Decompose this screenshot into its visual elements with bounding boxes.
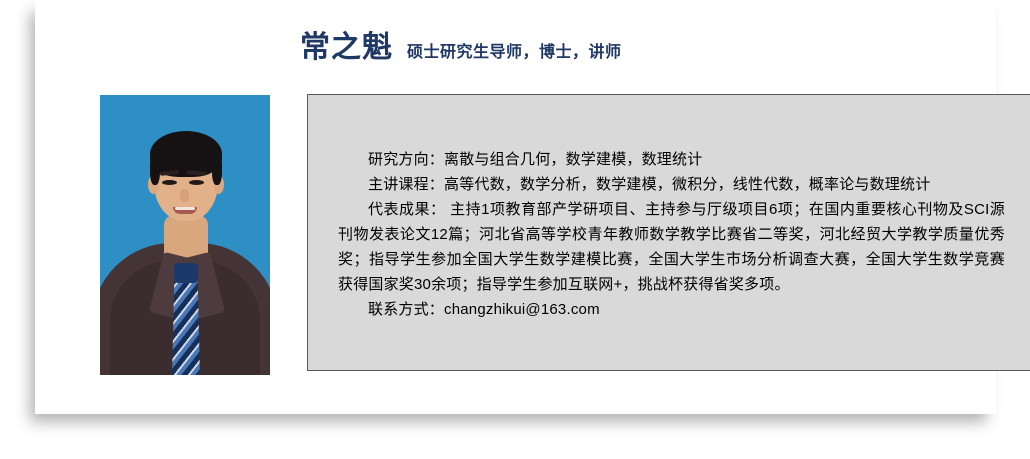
achievements-line: 代表成果： 主持1项教育部产学研项目、主持参与厅级项目6项；在国内重要核心刊物及… xyxy=(338,197,1005,297)
portrait-tie xyxy=(172,281,200,375)
research-direction-line: 研究方向：离散与组合几何，数学建模，数理统计 xyxy=(338,147,1005,172)
portrait-eye-left xyxy=(162,180,177,185)
portrait-tie-knot xyxy=(174,263,198,283)
portrait-nose xyxy=(180,189,189,202)
portrait-hair-side-left xyxy=(150,153,160,185)
portrait-teeth xyxy=(175,207,195,210)
contact-line: 联系方式：changzhikui@163.com xyxy=(338,297,1005,322)
page-root: 常之魁 硕士研究生导师，博士，讲师 研究方向：离散与 xyxy=(0,0,1030,459)
portrait-eye-right xyxy=(189,180,204,185)
profile-card: 常之魁 硕士研究生导师，博士，讲师 研究方向：离散与 xyxy=(35,0,996,414)
info-panel: 研究方向：离散与组合几何，数学建模，数理统计 主讲课程：高等代数，数学分析，数学… xyxy=(307,94,1030,371)
portrait-photo xyxy=(100,95,270,375)
profile-header: 常之魁 硕士研究生导师，博士，讲师 xyxy=(300,33,1000,79)
person-subtitle: 硕士研究生导师，博士，讲师 xyxy=(407,45,622,61)
page-title: 常之魁 xyxy=(300,33,393,63)
portrait-hair-side-right xyxy=(212,153,222,185)
courses-line: 主讲课程：高等代数，数学分析，数学建模，微积分，线性代数，概率论与数理统计 xyxy=(338,172,1005,197)
